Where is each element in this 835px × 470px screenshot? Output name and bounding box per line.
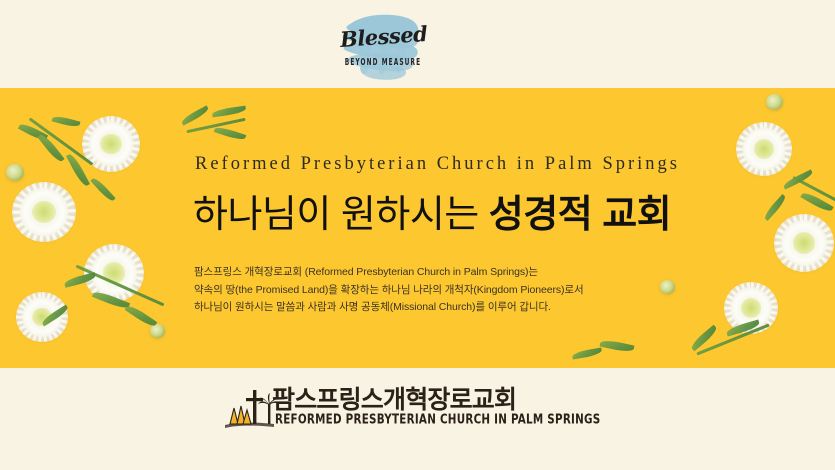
headline-light-part: 하나님이 원하시는 — [193, 194, 489, 236]
blessed-logo: Blessed BEYOND MEASURE — [336, 4, 428, 88]
paragraph-line: 약속의 땅(the Promised Land)을 확장하는 하나님 나라의 개… — [194, 282, 584, 300]
church-banner-page: Blessed BEYOND MEASURE — [0, 0, 835, 470]
cross-palm-tree-tents-icon — [222, 382, 278, 432]
blessed-script-text: Blessed — [339, 23, 426, 50]
top-cream-strip: Blessed BEYOND MEASURE — [0, 0, 835, 88]
church-name-english: REFORMED PRESBYTERIAN CHURCH IN PALM SPR… — [275, 411, 601, 427]
headline-bold-part: 성경적 교회 — [489, 194, 671, 236]
paragraph-line: 팜스프링스 개혁장로교회 (Reformed Presbyterian Chur… — [194, 264, 584, 282]
hero-headline: 하나님이 원하시는 성경적 교회 — [193, 183, 671, 238]
hero-eyebrow: Reformed Presbyterian Church in Palm Spr… — [195, 154, 680, 175]
blessed-tagline: BEYOND MEASURE — [340, 56, 426, 68]
paragraph-line: 하나님이 원하시는 말씀과 사람과 사명 공동체(Missional Churc… — [194, 299, 584, 317]
bottom-cream-strip: 팜스프링스개혁장로교회 REFORMED PRESBYTERIAN CHURCH… — [0, 368, 835, 470]
hero-banner: Reformed Presbyterian Church in Palm Spr… — [0, 88, 835, 368]
hero-paragraph: 팜스프링스 개혁장로교회 (Reformed Presbyterian Chur… — [194, 264, 584, 317]
church-logo: 팜스프링스개혁장로교회 REFORMED PRESBYTERIAN CHURCH… — [222, 380, 542, 438]
hero-content: Reformed Presbyterian Church in Palm Spr… — [0, 88, 835, 368]
